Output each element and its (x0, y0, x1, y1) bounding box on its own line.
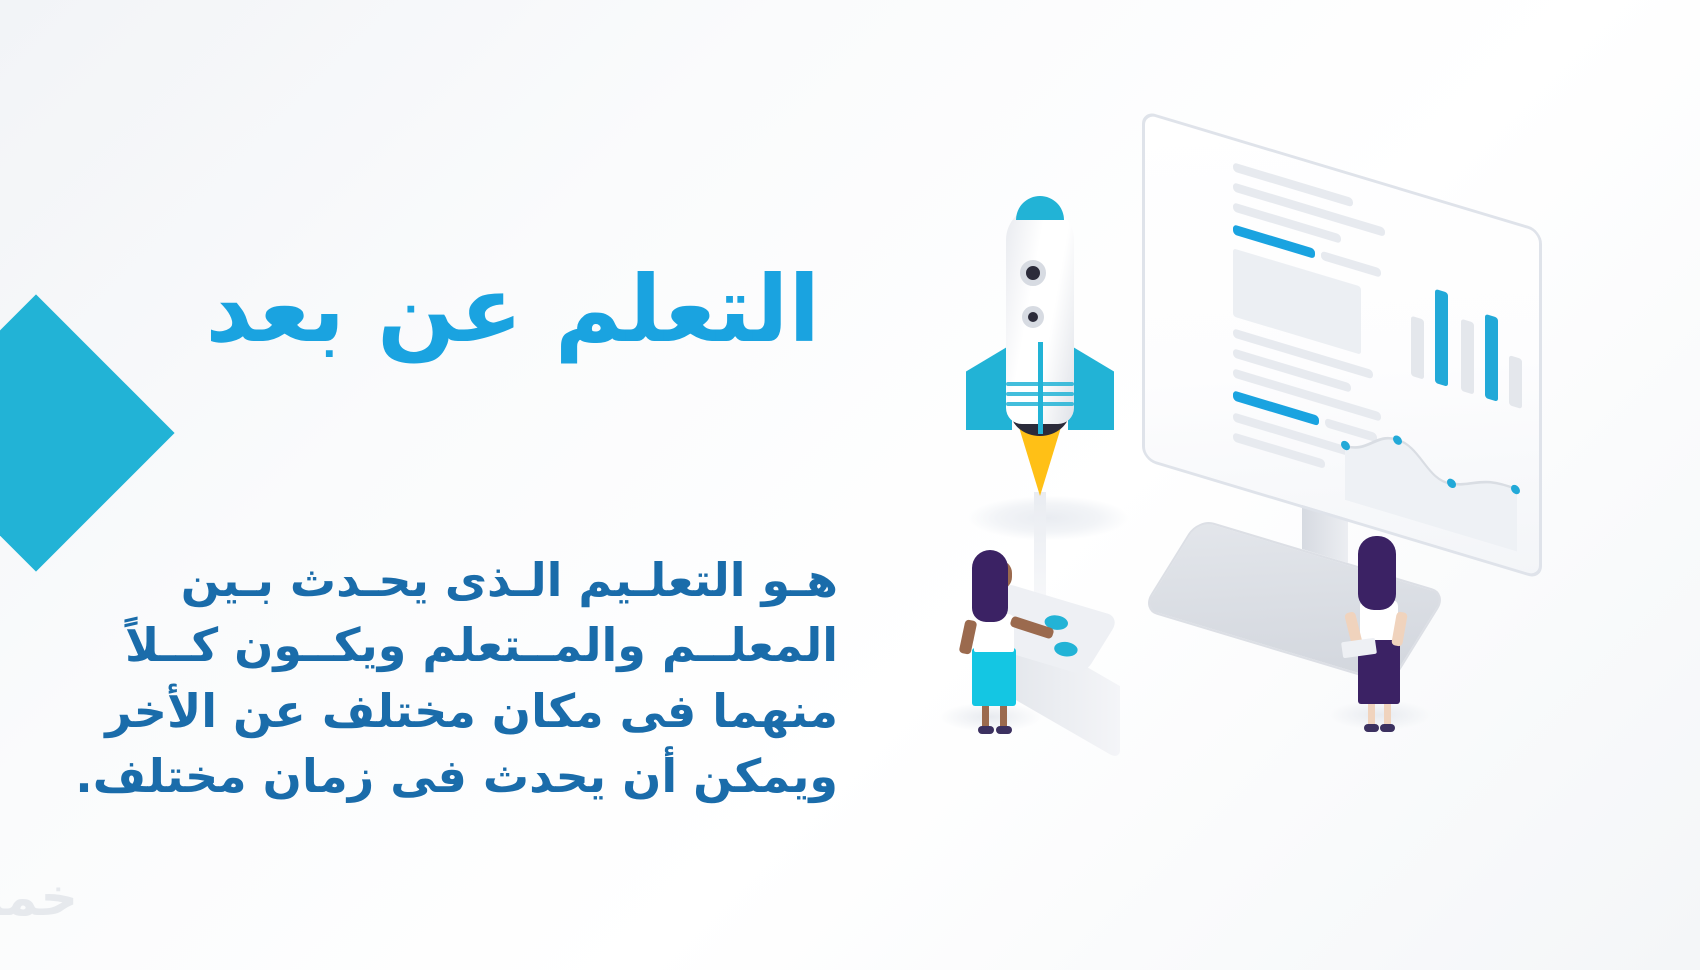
body-line-3: منهما فى مكان مختلف عن الأخر (48, 679, 838, 744)
watermark-text: خمسات (0, 868, 78, 928)
rocket-ring-3 (1006, 402, 1074, 406)
chart-bar-2 (1435, 289, 1448, 387)
page-title: التعلم عن بعد (90, 258, 820, 361)
rocket-ring-1 (1006, 382, 1074, 386)
person-left-arm-2 (1009, 615, 1054, 639)
body-paragraph: هـو التعلـيم الـذى يحـدث بـين المعلــم و… (48, 548, 838, 809)
chart-bar-1 (1411, 316, 1424, 380)
monitor-screen-content (1145, 114, 1539, 576)
chart-bar-4 (1485, 314, 1498, 402)
person-left-shoe-1 (978, 726, 994, 734)
person-right-shoe-2 (1380, 724, 1395, 732)
screen-text-line-4 (1321, 251, 1381, 278)
rocket-porthole-1 (1020, 260, 1046, 286)
body-line-1: هـو التعلـيم الـذى يحـدث بـين (48, 548, 838, 613)
chart-bar-3 (1461, 319, 1474, 395)
rocket-stripe (1038, 342, 1043, 434)
rocket-fin-right (1068, 344, 1114, 430)
person-left-skirt (972, 648, 1016, 706)
body-line-4: ويمكن أن يحدث فى زمان مختلف. (48, 744, 838, 809)
rocket-ground-shadow (968, 496, 1128, 540)
monitor-screen (1142, 110, 1542, 580)
console-button-2 (1051, 639, 1081, 659)
rocket-illustration (960, 196, 1140, 546)
person-right (1332, 528, 1432, 728)
person-right-hair (1358, 536, 1396, 610)
rocket-porthole-2 (1022, 306, 1044, 328)
person-left-shoe-2 (996, 726, 1012, 734)
slide-canvas: التعلم عن بعد هـو التعلـيم الـذى يحـدث ب… (0, 0, 1700, 970)
illustration-area (880, 0, 1700, 970)
rocket-nose-cone (1016, 196, 1064, 220)
chart-bar-5 (1509, 355, 1522, 409)
person-left (938, 540, 1048, 730)
person-right-shoe-1 (1364, 724, 1379, 732)
text-column: التعلم عن بعد هـو التعلـيم الـذى يحـدث ب… (58, 0, 838, 970)
person-left-hair (972, 550, 1008, 622)
rocket-ring-2 (1006, 392, 1074, 396)
body-line-2: المعلــم والمــتعلم ويكــون كــلاً (48, 613, 838, 678)
